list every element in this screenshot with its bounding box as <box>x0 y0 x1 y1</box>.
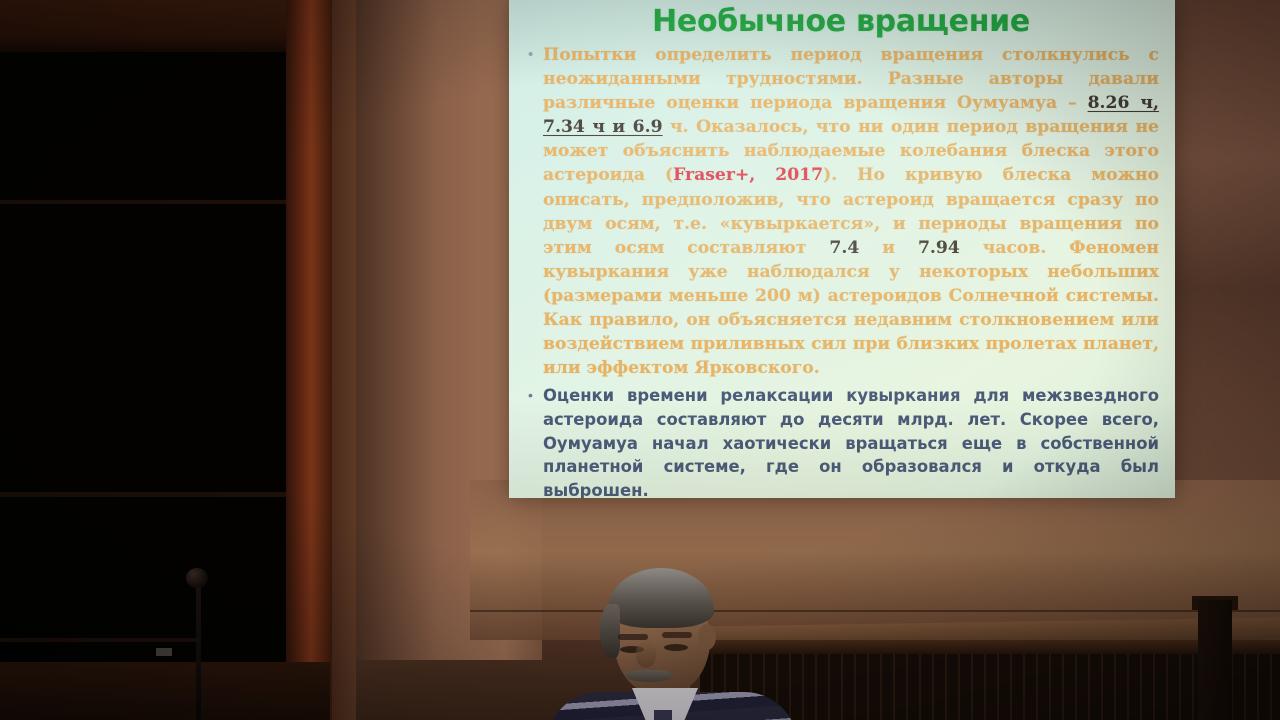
lecture-hall-scene: Необычное вращение • Попытки определить … <box>0 0 1280 720</box>
presenter-brow-left <box>618 634 648 640</box>
presenter-hair-side <box>600 604 620 658</box>
text-run-normal: Попытки определить период вращения столк… <box>543 45 1159 113</box>
paper-scrap <box>156 648 172 656</box>
presenter-hair <box>608 568 714 628</box>
dark-doorway <box>0 0 330 720</box>
presenter-ear <box>698 624 716 650</box>
bullet-1-text: Попытки определить период вращения столк… <box>543 43 1159 380</box>
presenter <box>540 560 800 720</box>
presenter-brow-right <box>662 632 692 638</box>
text-run-dark: 7.4 <box>829 238 859 258</box>
text-run-normal: и <box>859 238 918 258</box>
projection-screen: Необычное вращение • Попытки определить … <box>509 0 1175 498</box>
text-run-citation: Fraser+, 2017 <box>673 165 823 185</box>
presenter-shirt-placket <box>654 710 672 720</box>
doorway-shelf-line-upper <box>0 200 286 204</box>
bullet-2-text: Оценки времени релаксации кувыркания для… <box>543 384 1159 498</box>
doorway-shelf-line-lower <box>0 492 286 497</box>
slide-bullet-relaxation-time: • Оценки времени релаксации кувыркания д… <box>525 384 1159 498</box>
text-run-normal: Оценки времени релаксации кувыркания для… <box>543 386 1159 498</box>
presenter-nose <box>636 642 656 668</box>
presenter-mustache <box>626 670 672 682</box>
text-run-dark: 7.94 <box>918 238 960 258</box>
room-wall-left-strip <box>330 0 356 720</box>
door-frame-side <box>286 0 332 720</box>
bullet-marker-icon: • <box>525 384 543 407</box>
balustrade-post <box>1198 600 1232 720</box>
doorway-shelf-line-bottom <box>0 638 200 642</box>
text-run-normal: часов. Феномен кувыркания уже наблюдался… <box>543 238 1159 378</box>
door-frame-top <box>0 0 332 52</box>
slide-bullet-rotation-period: • Попытки определить период вращения сто… <box>525 43 1159 380</box>
slide-title: Необычное вращение <box>519 4 1163 40</box>
microphone-head-icon <box>186 568 208 588</box>
microphone-stand <box>196 578 201 720</box>
slide-bullet-list: • Попытки определить период вращения сто… <box>519 43 1163 498</box>
presenter-eye-right <box>664 644 688 651</box>
door-sill <box>0 662 330 720</box>
doorway-interior <box>0 52 286 662</box>
bullet-marker-icon: • <box>525 43 543 67</box>
